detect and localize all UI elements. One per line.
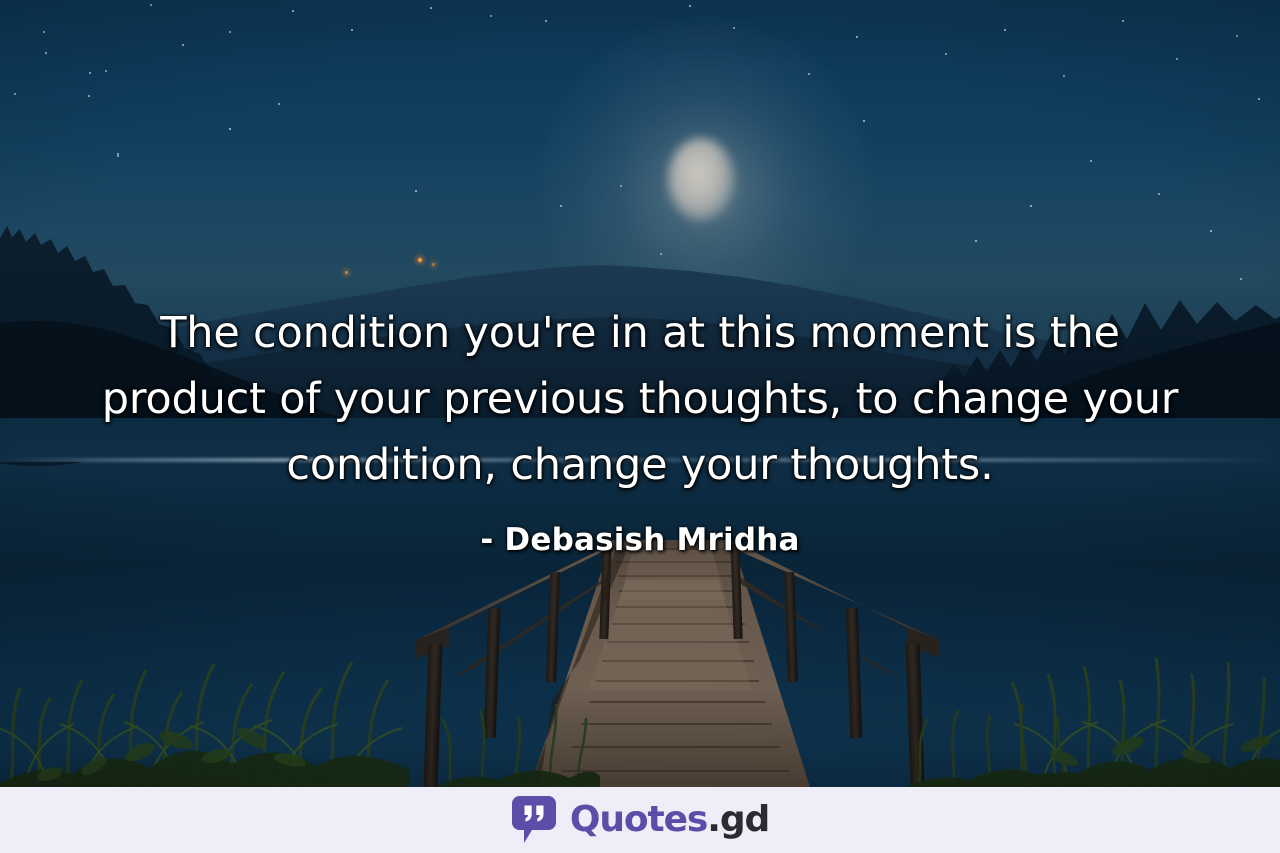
- brand-logo-link[interactable]: Quotes.gd: [511, 795, 769, 845]
- star: [430, 7, 432, 9]
- star: [415, 190, 417, 192]
- quote-bubble-icon: [511, 795, 557, 845]
- star: [1158, 193, 1160, 195]
- star: [1090, 160, 1092, 162]
- quote-image-page: The condition you're in at this moment i…: [0, 0, 1280, 853]
- star: [229, 31, 231, 33]
- star: [278, 103, 280, 105]
- star: [1176, 58, 1178, 60]
- star: [45, 52, 47, 54]
- star: [545, 20, 547, 22]
- site-footer: Quotes.gd: [0, 787, 1280, 853]
- star: [1004, 29, 1006, 31]
- brand-name-primary: Quotes: [570, 799, 707, 840]
- foreground-grass-mid-left: [430, 690, 600, 787]
- brand-name-secondary: .gd: [707, 799, 769, 840]
- star: [105, 70, 107, 72]
- quote-text: The condition you're in at this moment i…: [0, 300, 1280, 498]
- star: [117, 155, 119, 157]
- star: [88, 95, 90, 97]
- quote-author: - Debasish Mridha: [0, 520, 1280, 560]
- star: [1063, 75, 1065, 77]
- star: [945, 53, 947, 55]
- star: [150, 4, 152, 6]
- star: [292, 10, 294, 12]
- star: [14, 93, 16, 95]
- star: [490, 15, 492, 17]
- brand-wordmark: Quotes.gd: [570, 802, 769, 838]
- star: [856, 36, 858, 38]
- ridge-light: [432, 263, 435, 266]
- star: [863, 120, 865, 122]
- quote-overlay: The condition you're in at this moment i…: [0, 300, 1280, 560]
- star: [89, 72, 91, 74]
- star: [229, 128, 231, 130]
- star: [1236, 35, 1238, 37]
- star: [1258, 98, 1260, 100]
- foreground-grass-left: [0, 640, 410, 787]
- star: [1122, 20, 1124, 22]
- star: [689, 5, 691, 7]
- moon-icon: [668, 138, 734, 220]
- star: [351, 29, 353, 31]
- star: [43, 31, 45, 33]
- star: [182, 44, 184, 46]
- star: [117, 153, 119, 155]
- foreground-grass-mid-right: [900, 690, 1090, 787]
